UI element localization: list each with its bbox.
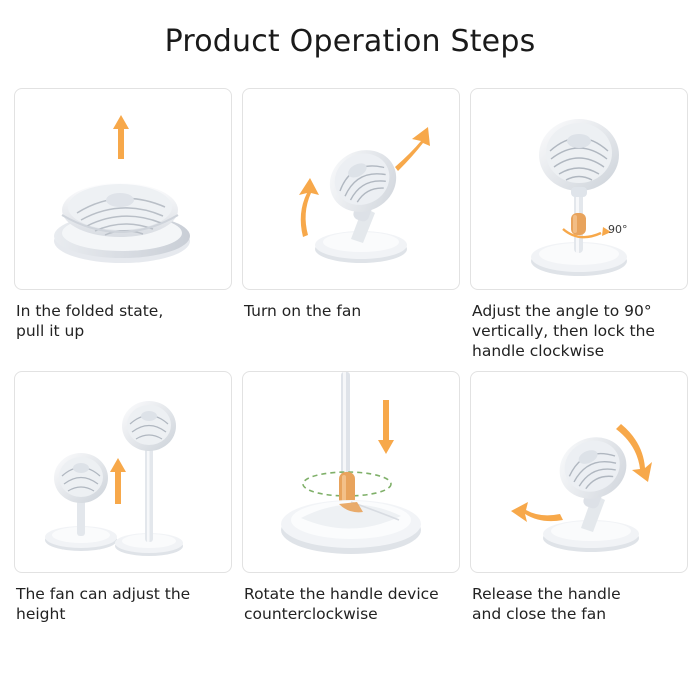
step-2-caption: Turn on the fan — [242, 301, 458, 321]
page-title: Product Operation Steps — [0, 0, 700, 59]
steps-grid: In the folded state, pull it up — [8, 88, 692, 634]
step-card-6: Release the handle and close the fan — [464, 371, 692, 624]
step-card-4: The fan can adjust the height — [8, 371, 236, 624]
step-card-3: 90° Adjust the angle to 90° — [464, 88, 692, 361]
angle-label: 90° — [608, 223, 628, 236]
rotate-handle-icon — [243, 372, 459, 572]
step-5-caption-line-1: Rotate the handle device — [244, 584, 458, 604]
curved-arrow-left-icon — [299, 178, 319, 237]
step-6-caption-line-1: Release the handle — [472, 584, 686, 604]
fan-folding-icon — [471, 372, 687, 572]
curved-arrow-up-icon — [395, 127, 430, 171]
step-card-5: Rotate the handle device counterclockwis… — [236, 371, 464, 624]
step-6-caption-line-2: and close the fan — [472, 604, 686, 624]
step-3-illustration-panel: 90° — [470, 88, 688, 290]
step-card-1: In the folded state, pull it up — [8, 88, 236, 361]
tall-fan — [115, 401, 183, 556]
step-4-illustration-panel — [14, 371, 232, 573]
up-arrow-icon — [110, 458, 126, 504]
operation-steps-page: Product Operation Steps — [0, 0, 700, 700]
fan-tilted-icon — [243, 89, 459, 289]
step-3-caption: Adjust the angle to 90° vertically, then… — [470, 301, 686, 361]
handle-knob — [571, 213, 586, 235]
step-3-caption-line-2: vertically, then lock the — [472, 321, 686, 341]
fan-upright-icon: 90° — [471, 89, 687, 289]
step-5-caption: Rotate the handle device counterclockwis… — [242, 584, 458, 624]
step-4-caption-line-2: height — [16, 604, 230, 624]
step-4-caption-line-1: The fan can adjust the — [16, 584, 230, 604]
down-arrow-icon — [378, 400, 394, 454]
curved-arrow-left-down-icon — [511, 502, 563, 522]
step-3-caption-line-1: Adjust the angle to 90° — [472, 301, 686, 321]
step-4-caption: The fan can adjust the height — [14, 584, 230, 624]
step-6-caption: Release the handle and close the fan — [470, 584, 686, 624]
step-5-caption-line-2: counterclockwise — [244, 604, 458, 624]
step-1-caption-line-1: In the folded state, — [16, 301, 230, 321]
step-card-2: Turn on the fan — [236, 88, 464, 361]
step-1-illustration-panel — [14, 88, 232, 290]
step-1-caption-line-2: pull it up — [16, 321, 230, 341]
step-6-illustration-panel — [470, 371, 688, 573]
up-arrow-icon — [113, 115, 129, 159]
folded-fan-icon — [15, 89, 231, 289]
step-3-caption-line-3: handle clockwise — [472, 341, 686, 361]
step-5-illustration-panel — [242, 371, 460, 573]
two-fans-height-icon — [15, 372, 231, 572]
short-fan — [45, 453, 117, 551]
step-2-caption-line-1: Turn on the fan — [244, 301, 458, 321]
step-2-illustration-panel — [242, 88, 460, 290]
step-1-caption: In the folded state, pull it up — [14, 301, 230, 341]
